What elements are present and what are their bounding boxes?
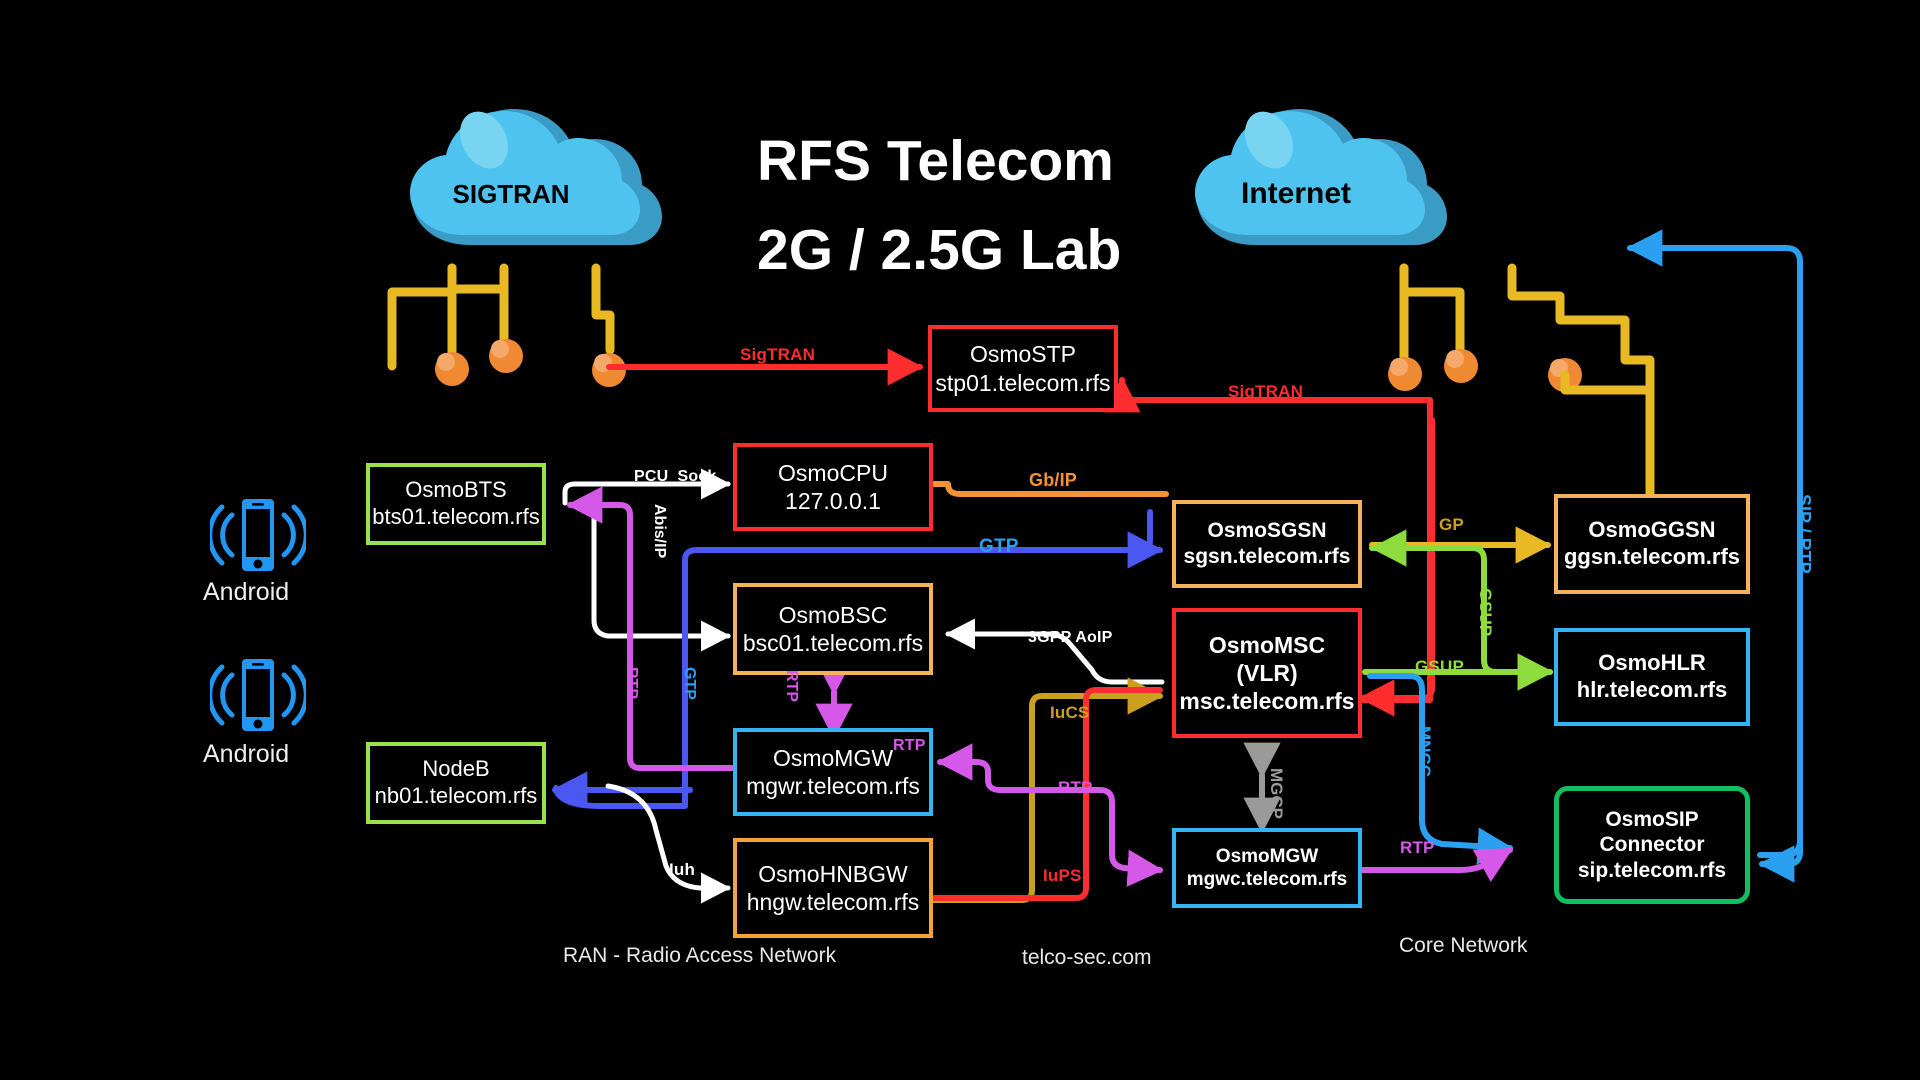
node-osmoggsn-host: ggsn.telecom.rfs [1564,544,1740,571]
label-3gpp-aoip: 3GPP AoIP [1028,629,1113,647]
node-osmomgw-mgwr-host: mgwr.telecom.rfs [746,772,920,800]
diagram-title-line1: RFS Telecom [757,128,1114,194]
node-osmomsc-host: msc.telecom.rfs [1179,687,1354,715]
label-rtp-bsc: RTP [782,670,800,702]
node-osmobsc-host: bsc01.telecom.rfs [743,629,923,657]
label-rtp-mid: RTP [1058,778,1093,798]
diagram-title-line2: 2G / 2.5G Lab [757,217,1121,283]
label-gp: GP [1439,515,1464,535]
node-osmosgsn[interactable]: OsmoSGSN sgsn.telecom.rfs [1172,500,1362,588]
node-osmosgsn-title: OsmoSGSN [1207,518,1326,544]
node-osmohlr[interactable]: OsmoHLR hlr.telecom.rfs [1554,628,1750,726]
node-osmomgw-mgwc-host: mgwc.telecom.rfs [1187,868,1348,891]
label-iucs: IuCS [1050,703,1090,723]
node-osmoggsn[interactable]: OsmoGGSN ggsn.telecom.rfs [1554,494,1750,594]
cloud-internet-label: Internet [1185,177,1407,211]
label-abis-ip: Abis/IP [650,504,668,558]
node-osmosip-title: OsmoSIP [1605,807,1698,833]
label-mgcp: MGCP [1266,768,1286,819]
node-osmohnbgw-host: hngw.telecom.rfs [747,888,920,916]
node-nodeb[interactable]: NodeB nb01.telecom.rfs [366,742,546,824]
label-pcu-sock: PCU_Sock [634,468,717,486]
mobile-phone-icon [210,655,306,735]
label-rtp-mgwr: RTP [893,737,926,755]
label-gsup-horizontal: GSUP [1415,657,1464,677]
node-osmostp-title: OsmoSTP [970,340,1076,368]
zone-label-ran: RAN - Radio Access Network [563,944,836,968]
android-1-label: Android [203,578,289,607]
mobile-phone-icon [210,495,306,575]
node-osmomsc[interactable]: OsmoMSC (VLR) msc.telecom.rfs [1172,608,1362,738]
cloud-icon [1185,95,1455,255]
label-gsup-vertical: GSUP [1475,588,1495,636]
node-osmobsc-title: OsmoBSC [779,601,888,629]
node-osmohnbgw-title: OsmoHNBGW [758,860,908,888]
label-mncc: MNCC [1414,726,1434,777]
zone-label-site: telco-sec.com [1022,946,1152,970]
label-rtp-sip: RTP [1400,838,1435,858]
node-osmomsc-vlr: (VLR) [1236,659,1297,687]
label-gtp-main: GTP [979,536,1019,558]
node-osmomgw-mgwc-title: OsmoMGW [1216,845,1318,868]
node-osmocpu-title: OsmoCPU [778,459,888,487]
node-nodeb-host: nb01.telecom.rfs [375,783,538,810]
android-2-label: Android [203,740,289,769]
label-gtp-vertical: GTP [680,667,698,700]
node-osmohlr-host: hlr.telecom.rfs [1577,677,1727,704]
label-sigtran-left: SigTRAN [740,345,815,365]
label-gb-ip: Gb/IP [1029,470,1077,491]
node-osmobts[interactable]: OsmoBTS bts01.telecom.rfs [366,463,546,545]
diagram-canvas: RFS Telecom 2G / 2.5G Lab SIGTRAN Intern… [0,0,1920,1080]
label-iuh: Iuh [669,860,695,880]
node-osmostp[interactable]: OsmoSTP stp01.telecom.rfs [928,325,1118,412]
zone-label-core: Core Network [1399,934,1527,958]
node-osmomgw-mgwr-title: OsmoMGW [773,744,893,772]
node-osmohlr-title: OsmoHLR [1598,650,1706,677]
node-osmostp-host: stp01.telecom.rfs [935,369,1110,397]
node-nodeb-title: NodeB [422,756,489,783]
node-osmosgsn-host: sgsn.telecom.rfs [1184,544,1351,570]
node-osmosip[interactable]: OsmoSIP Connector sip.telecom.rfs [1554,786,1750,904]
cloud-sigtran-label: SIGTRAN [400,179,622,210]
node-osmocpu[interactable]: OsmoCPU 127.0.0.1 [733,443,933,531]
cloud-icon [400,95,670,255]
node-osmosip-subtitle: Connector [1600,832,1705,858]
label-iups: IuPS [1043,866,1082,886]
node-osmocpu-host: 127.0.0.1 [785,487,881,515]
node-osmobsc[interactable]: OsmoBSC bsc01.telecom.rfs [733,583,933,675]
cloud-sigtran: SIGTRAN [400,95,670,260]
label-rtp-far-left: RTP [622,667,640,699]
node-osmosip-host: sip.telecom.rfs [1578,858,1726,884]
label-sigtran-right: SigTRAN [1228,382,1303,402]
node-osmomgw-mgwc[interactable]: OsmoMGW mgwc.telecom.rfs [1172,828,1362,908]
android-2 [210,655,306,740]
node-osmomsc-title: OsmoMSC [1209,631,1325,659]
cloud-internet: Internet [1185,95,1455,260]
node-osmohnbgw[interactable]: OsmoHNBGW hngw.telecom.rfs [733,838,933,938]
label-sip-rtp: SIP / RTP [1793,494,1814,574]
node-osmoggsn-title: OsmoGGSN [1588,517,1715,544]
node-osmobts-title: OsmoBTS [405,477,506,504]
node-osmobts-host: bts01.telecom.rfs [372,504,540,531]
android-1 [210,495,306,580]
